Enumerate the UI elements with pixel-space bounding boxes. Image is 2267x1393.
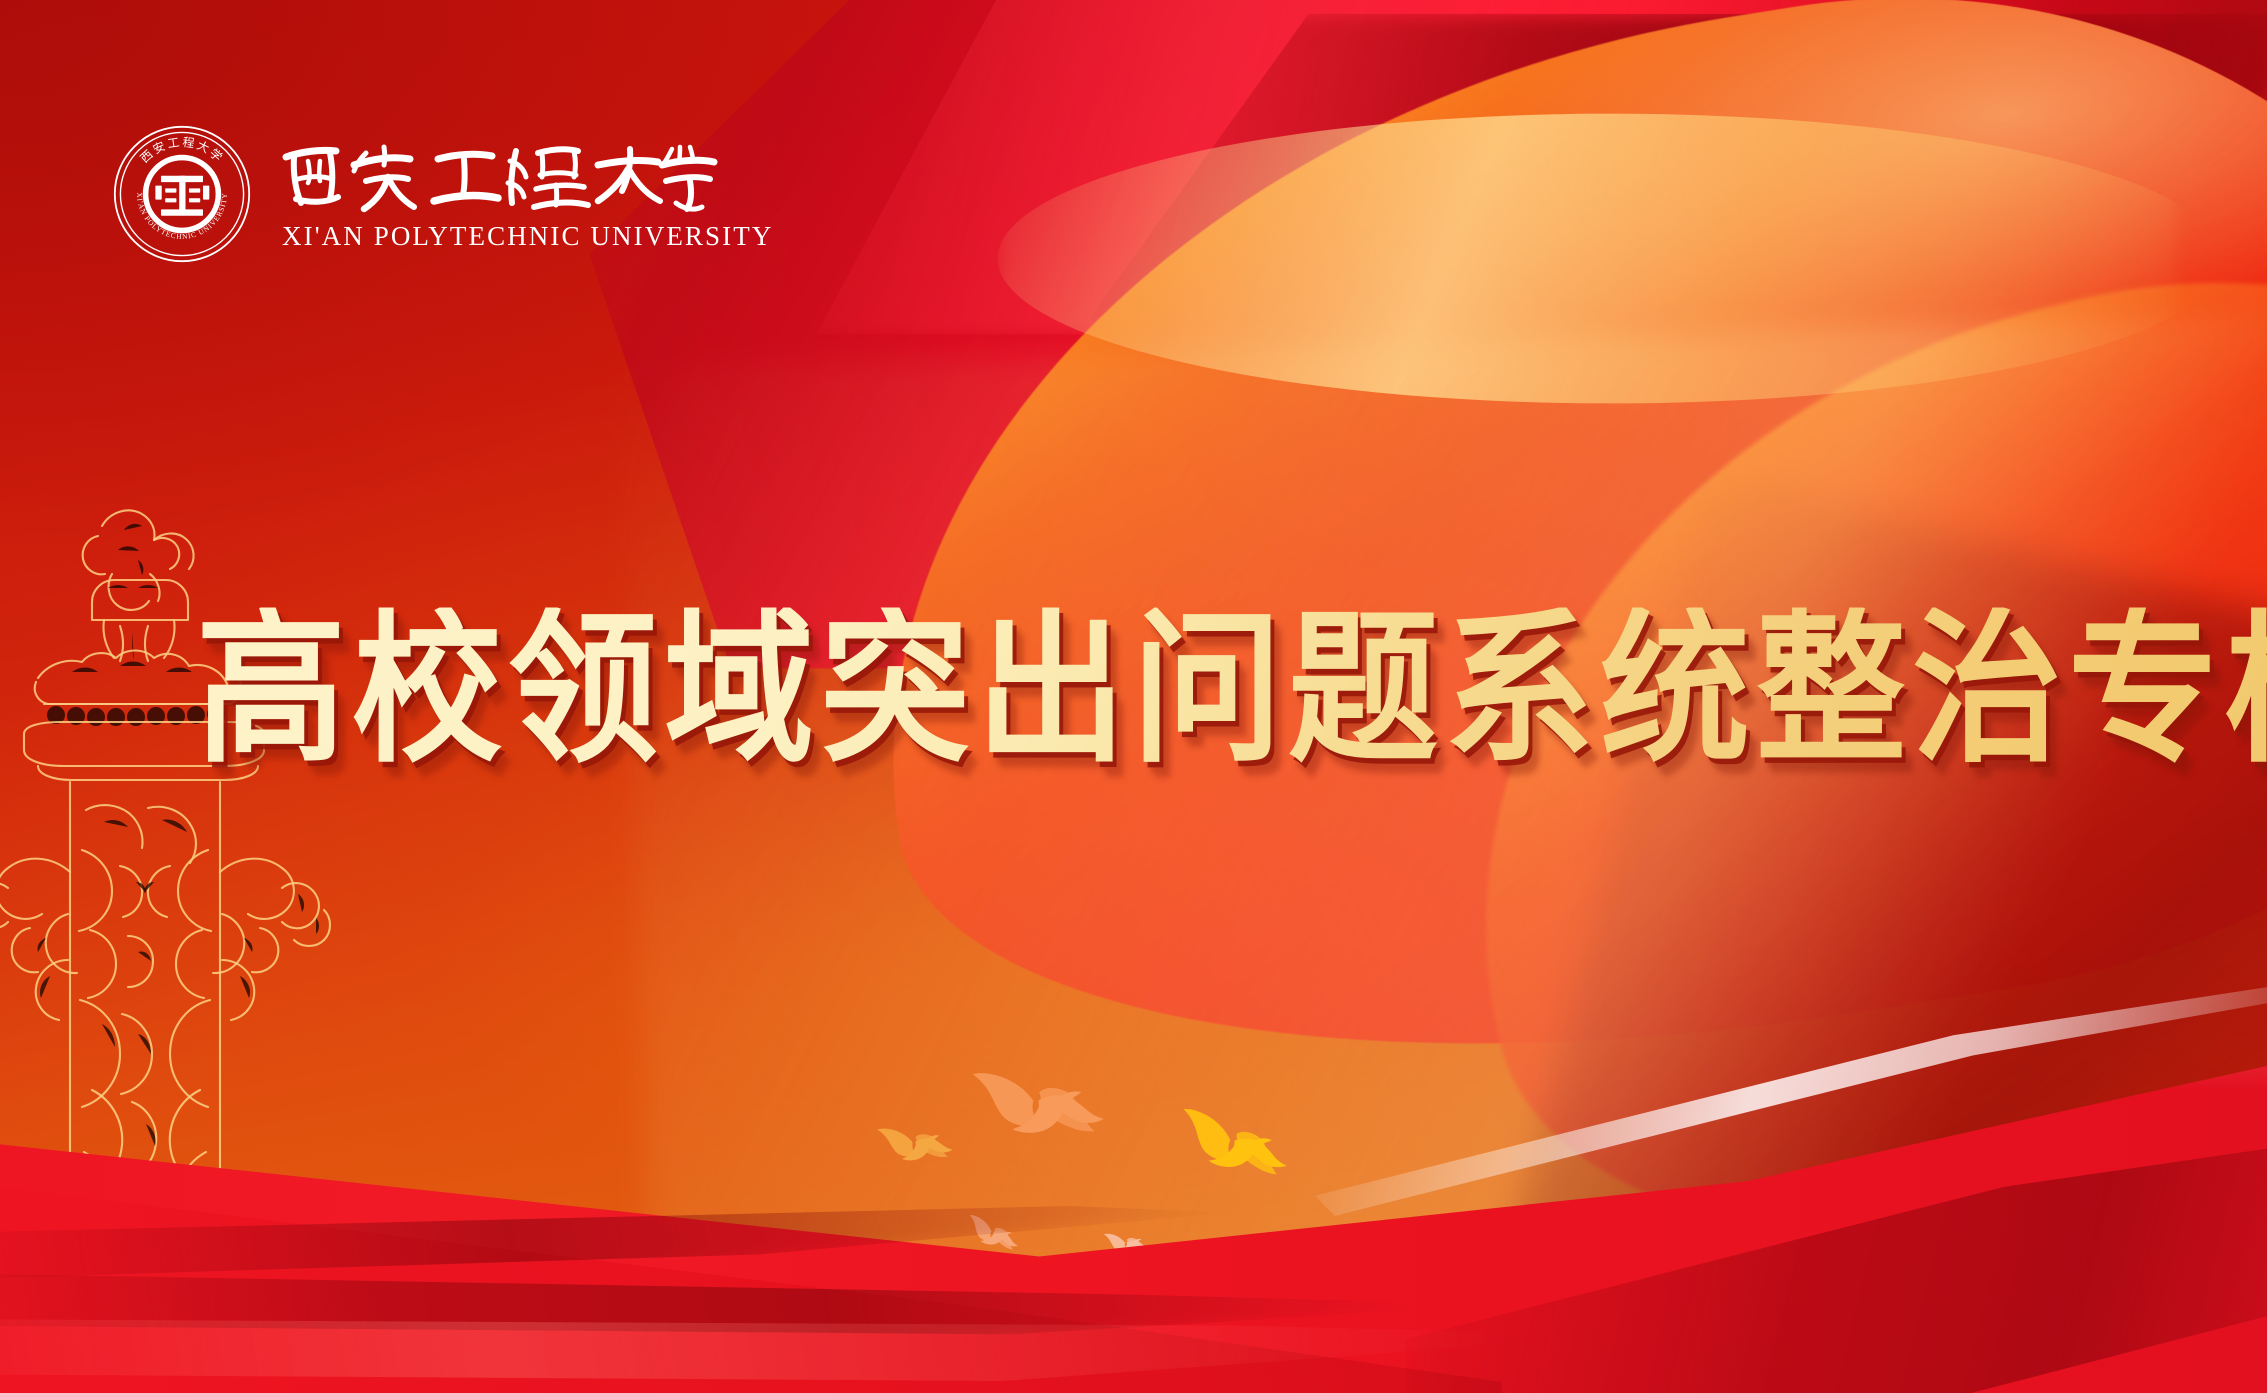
silk-edge-highlight-layer	[998, 56, 2177, 418]
silk-stripe-upper-icon	[816, 0, 2222, 334]
dove-1-icon	[877, 1115, 956, 1177]
wordmark-english-label: XI'AN POLYTECHNIC UNIVERSITY	[282, 221, 773, 252]
dove-8-icon	[1758, 1275, 1802, 1310]
university-logo[interactable]: 西安工程大学 XI'AN POLYTECHNIC UNIVERSITY	[112, 124, 773, 264]
wordmark-chinese-icon	[278, 137, 718, 219]
page-title-text: 高校领域突出问题系统整治专栏	[196, 608, 2267, 773]
right-ribbon-shadow	[1406, 1114, 2267, 1393]
university-emblem-icon: 西安工程大学 XI'AN POLYTECHNIC UNIVERSITY	[112, 124, 252, 264]
banner-canvas: 西安工程大学 XI'AN POLYTECHNIC UNIVERSITY	[0, 0, 2267, 1393]
diagonal-light-streak-layer	[618, 298, 2267, 1345]
right-ribbon-rim-highlight	[1315, 975, 2267, 1226]
silk-stripe-shadow-icon	[1088, 14, 2267, 320]
dove-2-icon	[972, 1056, 1106, 1161]
silk-fold-shade-layer	[793, 0, 2267, 1156]
dove-3-icon	[1171, 1102, 1297, 1192]
dove-4-icon	[962, 1211, 1024, 1258]
dove-7-icon	[545, 1276, 596, 1317]
svg-text:西安工程大学: 西安工程大学	[137, 135, 226, 166]
page-title: 高校领域突出问题系统整治专栏	[196, 600, 2176, 780]
silk-ribbon-icon	[589, 0, 2267, 669]
dove-9-icon	[2106, 1290, 2179, 1347]
dove-6-icon	[815, 1251, 891, 1315]
dove-5-icon	[1103, 1226, 1150, 1264]
university-wordmark: XI'AN POLYTECHNIC UNIVERSITY	[278, 137, 773, 252]
silk-fold-main-icon	[793, 0, 2267, 1156]
